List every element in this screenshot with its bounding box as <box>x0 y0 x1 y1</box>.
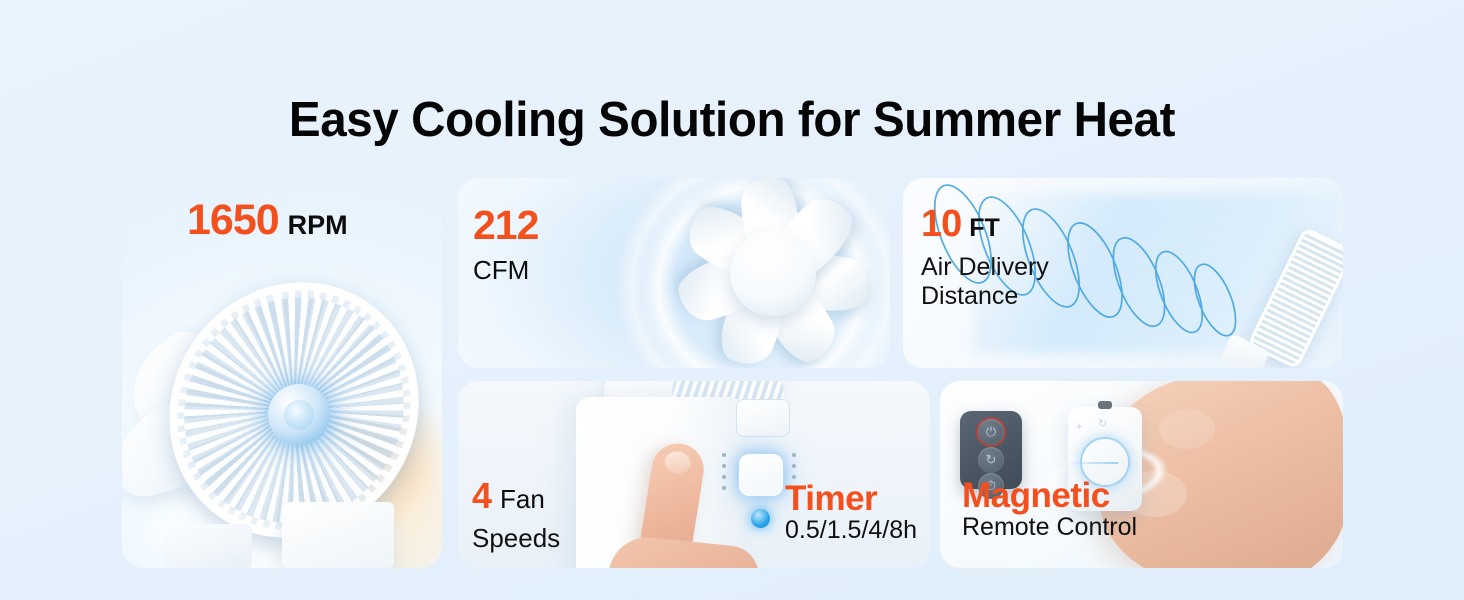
fan-blade-icon <box>122 318 240 442</box>
speed-button-icon: ↻ <box>978 447 1004 473</box>
fan-body-decoration <box>576 397 744 568</box>
stat-rpm: 1650RPM <box>187 199 348 242</box>
power-button-icon: ⏻ <box>978 419 1004 445</box>
fan-head-decoration <box>604 381 780 425</box>
fan-impeller-icon <box>635 178 890 368</box>
knuckle-highlight <box>1159 409 1215 449</box>
stat-timer-subtitle: 0.5/1.5/4/8h <box>785 516 917 544</box>
remote-top-tab <box>1098 401 1112 409</box>
stat-speeds-unit: Fan <box>500 486 545 512</box>
fan-base-decoration <box>282 502 394 568</box>
hand-icon <box>604 533 762 568</box>
fan-grill-decoration <box>1247 226 1343 368</box>
stat-air-subtitle-line2: Distance <box>921 282 1049 311</box>
stat-speeds-subtitle: Speeds <box>472 523 560 553</box>
warm-light-decoration <box>276 354 442 560</box>
stat-magnetic-label: Magnetic <box>962 478 1137 513</box>
impeller-blade <box>673 244 788 326</box>
stat-cfm-unit: CFM <box>473 257 538 283</box>
stat-cfm-value: 212 <box>473 205 538 246</box>
stat-air-unit: FT <box>969 216 1000 241</box>
stat-magnetic-subtitle: Remote Control <box>962 513 1137 541</box>
stat-air-subtitle-line1: Air Delivery <box>921 253 1049 282</box>
stat-magnetic: Magnetic Remote Control <box>962 478 1137 542</box>
impeller-blade <box>748 188 863 299</box>
remote-marking: ↻ <box>1098 417 1107 430</box>
remote-marking: + <box>1076 421 1082 433</box>
impeller-blade <box>745 252 844 368</box>
fan-grill-decoration <box>672 381 784 417</box>
impeller-blade <box>740 178 801 282</box>
promo-banner: Easy Cooling Solution for Summer Heat 16… <box>0 0 1464 600</box>
fan-cage-icon <box>158 264 430 555</box>
stat-timer-label: Timer <box>785 481 917 516</box>
stat-air-subtitle: Air Delivery Distance <box>921 253 1049 311</box>
led-indicator-icon <box>751 509 770 528</box>
impeller-hub <box>723 223 823 323</box>
impeller-blade <box>760 244 872 317</box>
stat-timer: Timer 0.5/1.5/4/8h <box>785 481 917 545</box>
glow-floor-decoration <box>122 410 442 568</box>
stat-rpm-value: 1650 <box>187 199 279 242</box>
stat-fan-speeds: 4Fan Speeds <box>472 478 560 553</box>
stat-air-value: 10 <box>921 205 961 243</box>
fan-foot-decoration <box>1219 334 1270 368</box>
stat-rpm-unit: RPM <box>288 212 348 239</box>
mode-button-icon <box>736 399 790 437</box>
tilted-fan-icon <box>1247 226 1343 368</box>
fan-blade-icon <box>122 389 241 503</box>
finger-icon <box>633 440 708 568</box>
motor-hub-icon <box>268 384 330 446</box>
airflow-swirl-icon <box>596 178 890 368</box>
stat-speeds-value: 4 <box>472 478 491 514</box>
fan-rim-decoration <box>151 257 437 563</box>
stat-cfm: 212 CFM <box>473 205 538 283</box>
stat-air-delivery: 10FT Air Delivery Distance <box>921 205 1049 311</box>
speed-indicator-dots-icon <box>722 453 726 497</box>
impeller-blade <box>678 195 795 301</box>
page-title: Easy Cooling Solution for Summer Heat <box>22 92 1442 148</box>
impeller-blade <box>711 255 802 368</box>
power-button-icon <box>738 453 784 497</box>
packaging-box-decoration <box>164 524 252 568</box>
